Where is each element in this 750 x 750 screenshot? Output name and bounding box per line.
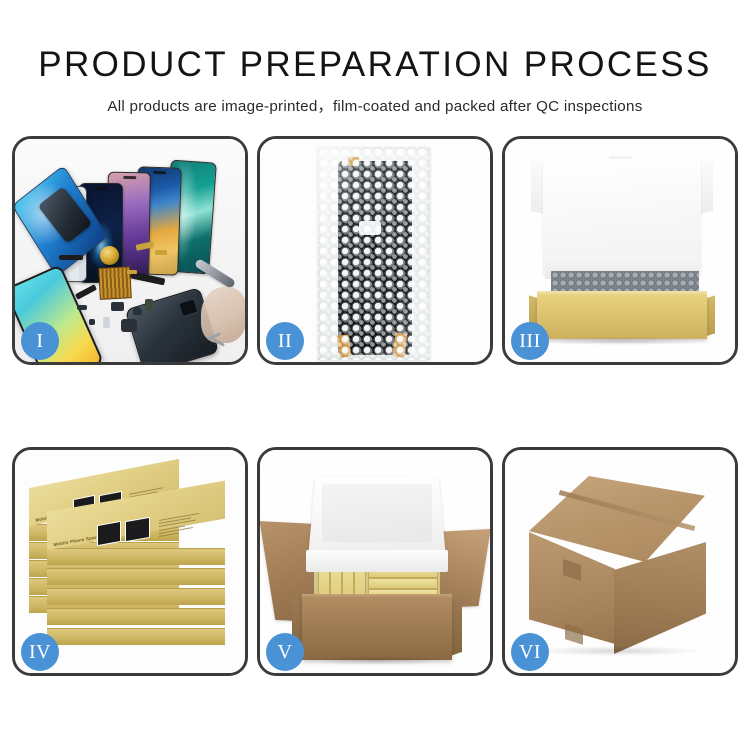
process-step-6: VI bbox=[502, 447, 738, 676]
step-badge: I bbox=[21, 322, 59, 360]
page-title: PRODUCT PREPARATION PROCESS bbox=[0, 47, 750, 82]
infographic-header: PRODUCT PREPARATION PROCESS All products… bbox=[0, 0, 750, 114]
process-step-2: II bbox=[257, 136, 493, 365]
product-preparation-infographic: PRODUCT PREPARATION PROCESS All products… bbox=[0, 0, 750, 750]
step-badge: II bbox=[266, 322, 304, 360]
process-step-4: Mobile Phone Spare Parts M bbox=[12, 447, 248, 676]
page-subtitle: All products are image-printed，film-coat… bbox=[0, 99, 750, 114]
step-badge: III bbox=[511, 322, 549, 360]
step-badge: V bbox=[266, 633, 304, 671]
step-badge: IV bbox=[21, 633, 59, 671]
step-badge: VI bbox=[511, 633, 549, 671]
process-step-5: V bbox=[257, 447, 493, 676]
process-step-3: III bbox=[502, 136, 738, 365]
process-step-grid: I II bbox=[12, 136, 738, 676]
process-step-1: I bbox=[12, 136, 248, 365]
